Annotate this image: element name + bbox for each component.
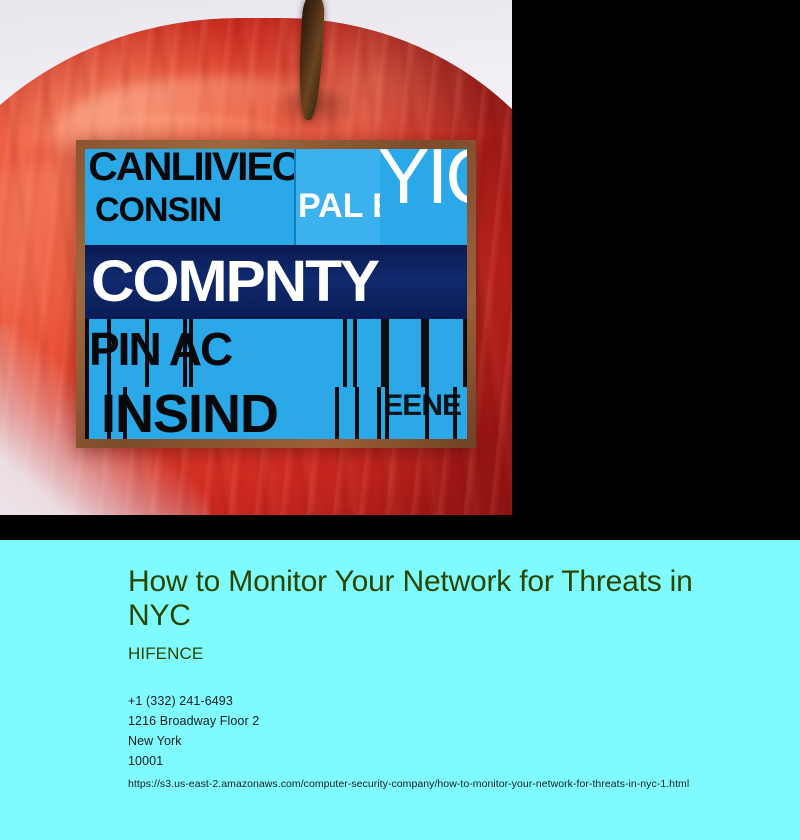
logo-garbled-text-8: EENE xyxy=(383,389,461,423)
apple-photo: CANLIIVIECAIOI CONSIN PAL E YIC COMPNTY xyxy=(0,0,512,515)
contact-city: New York xyxy=(128,731,740,751)
logo-row-mid: PIN AC xyxy=(85,319,467,387)
logo-cell-top-right: YIC xyxy=(380,149,467,245)
hero-section: CANLIIVIECAIOI CONSIN PAL E YIC COMPNTY xyxy=(0,0,800,540)
contact-phone: +1 (332) 241-6493 xyxy=(128,691,740,711)
logo-garbled-text-3: PAL E xyxy=(298,187,380,226)
logo-garbled-text-6: PIN AC xyxy=(89,321,231,379)
logo-garbled-text-1: CANLIIVIECAIOI xyxy=(88,149,294,190)
logo-garbled-text-company: COMPNTY xyxy=(91,253,378,311)
contact-street: 1216 Broadway Floor 2 xyxy=(128,711,740,731)
contact-zip: 10001 xyxy=(128,751,740,771)
logo-cell-top-left: CANLIIVIECAIOI CONSIN xyxy=(85,149,294,245)
letterbox-band xyxy=(0,515,800,540)
brand-name: HIFENCE xyxy=(128,644,740,664)
logo-inner-panel: CANLIIVIECAIOI CONSIN PAL E YIC COMPNTY xyxy=(85,149,467,439)
logo-garbled-text-7: INSIND xyxy=(101,387,278,439)
logo-garbled-text-2: CONSIN xyxy=(95,191,221,230)
logo-cell-top-mid: PAL E xyxy=(294,149,380,245)
contact-block: +1 (332) 241-6493 1216 Broadway Floor 2 … xyxy=(128,691,740,791)
source-url[interactable]: https://s3.us-east-2.amazonaws.com/compu… xyxy=(128,777,740,791)
logo-row-bottom: INSIND EENE xyxy=(85,387,467,439)
content-panel: How to Monitor Your Network for Threats … xyxy=(0,540,800,840)
logo-row-top: CANLIIVIECAIOI CONSIN PAL E YIC xyxy=(85,149,467,245)
page-title: How to Monitor Your Network for Threats … xyxy=(128,565,728,632)
company-logo-plaque: CANLIIVIECAIOI CONSIN PAL E YIC COMPNTY xyxy=(76,140,476,448)
logo-row-navy: COMPNTY xyxy=(85,245,467,319)
logo-garbled-text-nyc: YIC xyxy=(380,149,467,215)
